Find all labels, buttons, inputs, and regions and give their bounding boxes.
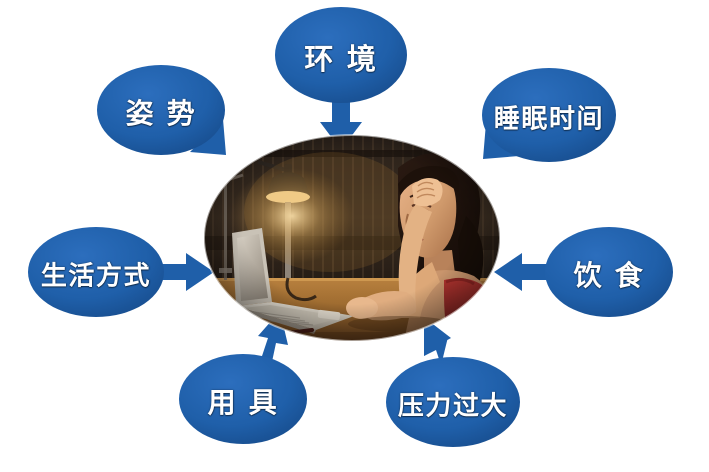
eye-fatigue-causes-diagram: 环 境 姿 势 睡眠时间 生活方式 饮 食 用 具 压力过大: [0, 0, 709, 472]
center-photo: [204, 135, 500, 341]
bubble-posture[interactable]: [97, 65, 225, 155]
bubble-lifestyle[interactable]: [28, 227, 164, 317]
bubble-equipment[interactable]: [179, 354, 307, 444]
bubble-environment[interactable]: [275, 7, 407, 103]
bubble-diet[interactable]: [545, 227, 673, 317]
diagram-graphics-layer: [0, 0, 709, 472]
bubble-excessive-stress[interactable]: [386, 357, 520, 447]
bubble-sleep-time[interactable]: [482, 68, 616, 162]
